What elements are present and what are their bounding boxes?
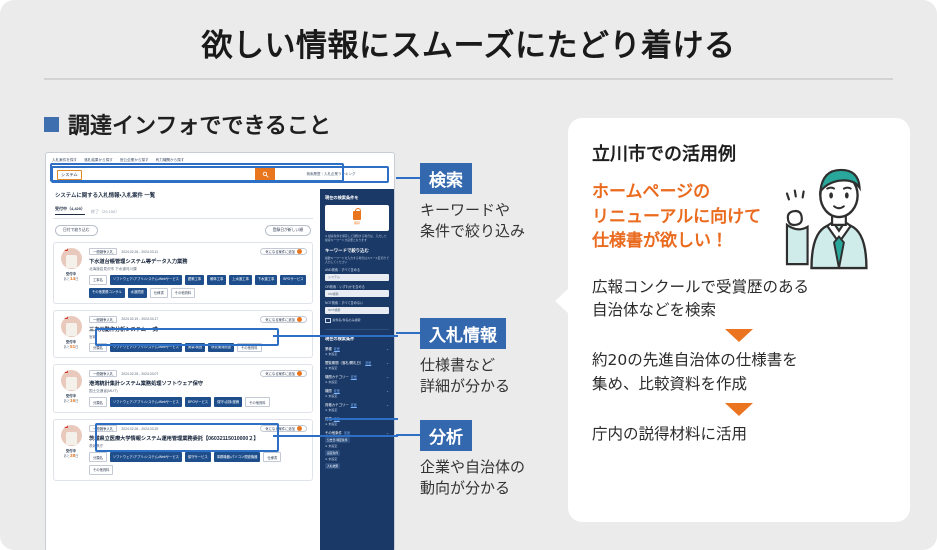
result-thumbnail: NEW 受付中 あと38日 — [58, 425, 84, 475]
chip: その他資料 — [245, 397, 269, 407]
new-badge: NEW — [61, 370, 69, 373]
filter-row[interactable]: 機関カテゴリー変更⌄ ※ 未設定 — [325, 374, 389, 384]
chevron-down-icon: ⌄ — [386, 389, 389, 393]
or-search-input[interactable]: OR検索 — [325, 290, 389, 297]
result-chips: 分類名 ソフトウェア・アプリ・システム・Webサービス BPOサービス 保守・点… — [89, 397, 307, 407]
down-arrow-icon — [725, 329, 753, 342]
star-icon — [297, 249, 302, 254]
result-organization: 官報 — [89, 335, 307, 340]
bid-type-tag: 一般競争入札 — [89, 370, 117, 377]
star-icon — [297, 426, 302, 431]
filter-row[interactable]: その他条件変更⌄ 公告日・特定条件 ※ 未設定 設定条件 ※ 未設定 入札結果 — [325, 430, 389, 469]
checkbox-icon — [325, 318, 331, 324]
callout-description: 仕様書など 詳細が分かる — [420, 355, 510, 398]
filter-change-link[interactable]: 変更 — [344, 431, 350, 435]
callout-badge: 入札情報 — [420, 318, 506, 349]
and-search-label: AND検索：すべて含める — [325, 267, 389, 272]
callout-leader-line — [396, 177, 420, 179]
filter-label: 閲覧期間（落札/開札日） — [325, 360, 363, 365]
save-search-note: ※ 検索条件を保存して通知する場合は、入力した検索キーワードが必要となります — [325, 234, 389, 242]
lock-icon — [353, 211, 361, 220]
result-thumbnail: NEW 受付中 あと51日 — [58, 316, 84, 353]
result-title[interactable]: 茨城県立医療大学情報システム運用管理業務委託【06032115010000２】 — [89, 435, 307, 442]
case-study-heading: 立川市での活用例 — [592, 140, 886, 166]
result-chips: 分類名 ソフトウェア・アプリ・システム・Webサービス 保守サービス 事務機器・… — [89, 452, 307, 475]
date-filter-button[interactable]: 日付で絞り込む — [55, 225, 98, 236]
keyword-filter-heading: キーワードで絞り込む — [325, 248, 389, 254]
avatar: NEW — [61, 248, 82, 269]
callout-badge: 分析 — [420, 420, 472, 451]
chip: 分類名 — [89, 397, 107, 407]
filter-row[interactable]: 閲覧期間（落札/開札日）変更⌄ ※ 未設定 — [325, 360, 389, 370]
checkbox-label: 案件名・件名のみ検索 — [333, 318, 361, 322]
mock-global-nav: 入札案件を探す 落札結果から探す 官公企業から探す 有力機関から探す — [46, 153, 394, 166]
days-unit: 日 — [75, 454, 78, 458]
chip: 分類名 — [89, 452, 107, 462]
callout-analysis: 分析 企業や自治体の 動向が分かる — [396, 420, 525, 500]
result-thumbnail: NEW 受付中 あと16日 — [58, 370, 84, 407]
chip: 上水道工事 — [229, 275, 251, 285]
tab-closed[interactable]: 終了（29,150） — [91, 209, 119, 215]
filter-row[interactable]: 資格変更⌄ ※ 未設定 — [325, 416, 389, 426]
section-heading-label: 調達インフォでできること — [68, 108, 331, 140]
days-unit: 日 — [75, 345, 78, 349]
case-step-2: 約20の先進自治体の仕様書を 集め、比較資料を作成 — [592, 349, 886, 396]
bid-date-range: 2024.02.26 - 2024.03.11 — [121, 250, 158, 254]
businessman-illustration — [778, 166, 896, 270]
new-badge: NEW — [61, 425, 69, 428]
down-arrow-icon — [725, 403, 753, 416]
square-bullet-icon — [44, 117, 59, 132]
save-search-button[interactable]: 保存 — [325, 205, 389, 231]
filter-label: 業種 — [325, 346, 332, 351]
chip: 解体工事 — [207, 275, 226, 285]
callout-badge: 検索 — [420, 163, 472, 194]
filter-change-link[interactable]: 変更 — [351, 403, 357, 407]
star-icon — [297, 371, 302, 376]
favorite-label: 気になる案件に追加 — [265, 426, 295, 431]
search-bar[interactable]: システム 検索履歴｜入札企業ランキング — [51, 166, 389, 183]
filter-state: ※ 未設定 — [325, 394, 389, 398]
chip: 保守サービス — [185, 452, 211, 462]
add-to-favorites-button[interactable]: 気になる案件に追加 — [260, 370, 307, 377]
filter-change-link[interactable]: 変更 — [334, 347, 340, 351]
section-heading: 調達インフォでできること — [44, 108, 331, 140]
search-input[interactable]: システム — [53, 168, 255, 181]
card-pointer-notch — [555, 288, 569, 314]
favorite-label: 気になる案件に追加 — [265, 317, 295, 322]
chip: ソフトウェア・アプリ・システム・Webサービス — [110, 452, 182, 462]
filter-change-link[interactable]: 変更 — [365, 361, 371, 365]
case-study-steps: 広報コンクールで受賞歴のある 自治体などを検索 約20の先進自治体の仕様書を 集… — [592, 276, 886, 446]
filter-state: ※ 未設定 — [325, 408, 389, 412]
chip: ソフトウェア・アプリ・システム・Webサービス — [110, 397, 182, 407]
sort-button[interactable]: 登録日が新しい順 — [265, 225, 311, 236]
callout-search: 検索 キーワードや 条件で絞り込み — [396, 163, 525, 243]
bid-date-range: 2024.02.25 - 2024.03.07 — [121, 372, 158, 376]
result-organization: 国土交通省(MLIT) — [89, 389, 307, 394]
chip: ソフトウェア・アプリ・システム・Webサービス — [110, 343, 182, 353]
bid-type-tag: 一般競争入札 — [89, 316, 117, 323]
chevron-down-icon: ⌄ — [386, 403, 389, 407]
search-icon — [262, 171, 269, 178]
result-title[interactable]: 下水道台帳管理システム等データ入力業務 — [89, 258, 307, 265]
new-badge: NEW — [61, 248, 69, 251]
title-divider — [44, 78, 893, 80]
chip: 保守・点検・整備 — [214, 397, 242, 407]
chip: その他資料 — [89, 465, 113, 475]
filter-label: 資格 — [325, 416, 332, 421]
filter-state: ※ 未設定 — [325, 380, 389, 384]
result-organization: 茨城県庁 — [89, 444, 307, 449]
chevron-down-icon: ⌄ — [386, 347, 389, 351]
chip: 仕様書 — [150, 288, 168, 298]
days-unit: 日 — [75, 399, 78, 403]
filter-chip: 入札結果 — [325, 463, 340, 469]
filter-change-link[interactable]: 変更 — [334, 417, 340, 421]
result-card[interactable]: NEW 受付中 あと51日 一般競争入札 2024.02.19 - 2024.0… — [53, 310, 313, 359]
results-heading: システムに関する入札情報・入札案件 一覧 — [55, 191, 313, 199]
filter-state: ※ 未設定 — [325, 422, 389, 426]
filter-row[interactable]: 業種変更⌄ ※ 未設定 — [325, 346, 389, 356]
callout-leader-line — [396, 332, 420, 334]
case-study-card: 立川市での活用例 ホームページの リニューアルに向けて 仕様書が欲しい！ — [568, 118, 910, 522]
save-search-heading: 現在の検索条件を — [325, 195, 389, 201]
filter-label: その他条件 — [325, 430, 342, 435]
search-button[interactable] — [255, 168, 275, 181]
avatar: NEW — [61, 370, 82, 391]
result-thumbnail: NEW 受付中 あと14日 — [58, 248, 84, 298]
filter-row[interactable]: 資格カテゴリー変更⌄ ※ 未設定 — [325, 402, 389, 412]
filter-label: 資格カテゴリー — [325, 402, 349, 407]
chip: その他資料 — [237, 343, 261, 353]
result-days: あと51日 — [64, 344, 79, 349]
app-screenshot-mock: 入札案件を探す 落札結果から探す 官公企業から探す 有力機関から探す システム … — [45, 152, 395, 550]
callout-bid-info: 入札情報 仕様書など 詳細が分かる — [396, 318, 510, 398]
add-to-favorites-button[interactable]: 気になる案件に追加 — [260, 248, 307, 255]
chip: ソフトウェア・アプリ・システム・Webサービス — [110, 275, 182, 285]
result-organization: 北海道岩見沢市 下水道河川課 — [89, 267, 307, 272]
avatar: NEW — [61, 316, 82, 337]
tab-open[interactable]: 受付中（4,420） — [55, 206, 85, 215]
or-search-label: OR検索：いずれかを含める — [325, 284, 389, 289]
chip: 工事名 — [89, 275, 107, 285]
case-step-3: 庁内の説得材料に活用 — [592, 423, 886, 446]
filter-row[interactable]: 機関変更⌄ ※ 未設定 — [325, 388, 389, 398]
results-tabs: 受付中（4,420） 終了（29,150） — [55, 206, 313, 215]
filter-change-link[interactable]: 変更 — [351, 375, 357, 379]
filter-state: ※ 未設定 — [325, 366, 389, 370]
result-meta: 一般競争入札 2024.02.26 - 2024.03.25 気になる案件に追加 — [89, 425, 307, 432]
search-extra-links[interactable]: 検索履歴｜入札企業ランキング — [275, 168, 387, 181]
nav-item-3[interactable]: 有力機関から探す — [156, 158, 185, 163]
case-study-quote: ホームページの リニューアルに向けて 仕様書が欲しい！ — [592, 180, 792, 254]
chevron-down-icon: ⌄ — [386, 431, 389, 435]
result-title[interactable]: 港湾統計集計システム業務処理ソフトウェア保守 — [89, 380, 307, 387]
chip: 建築工事 — [185, 275, 204, 285]
result-chips: 分類名 ソフトウェア・アプリ・システム・Webサービス 測量・検査 研究開発関連… — [89, 343, 307, 353]
chip: 下水道工事 — [255, 275, 277, 285]
chip: BPOサービス — [185, 397, 211, 407]
search-keyword-chip: システム — [57, 170, 82, 180]
results-toolbar: 日付で絞り込む 登録日が新しい順 — [55, 225, 311, 236]
keyword-filter-hint: 複数キーワードを入力する場合はスペース区切りで入力してください — [325, 256, 389, 264]
result-card[interactable]: NEW 受付中 あと16日 一般競争入札 2024.02.25 - 2024.0… — [53, 364, 313, 413]
title-only-checkbox[interactable]: 案件名・件名のみ検索 — [325, 318, 389, 324]
new-badge: NEW — [61, 316, 69, 319]
result-card[interactable]: NEW 受付中 あと38日 一般競争入札 2024.02.26 - 2024.0… — [53, 419, 313, 481]
and-search-input[interactable]: システム — [325, 274, 389, 281]
filter-state: ※ 未設定 — [325, 457, 389, 461]
chip: 仕様書 — [263, 452, 281, 462]
chevron-down-icon: ⌄ — [386, 417, 389, 421]
filter-state: ※ 未設定 — [325, 444, 389, 448]
star-icon — [297, 317, 302, 322]
chevron-down-icon: ⌄ — [386, 361, 389, 365]
slide-canvas: 欲しい情報にスムーズにたどり着ける 調達インフォでできること 入札案件を探す 落… — [0, 0, 937, 550]
result-title[interactable]: 三次元動作分析システム 一式 — [89, 326, 307, 333]
favorite-label: 気になる案件に追加 — [265, 371, 295, 376]
save-label: 保存 — [354, 221, 360, 225]
chip: その他資料 — [171, 288, 195, 298]
result-meta: 一般競争入札 2024.02.26 - 2024.03.11 気になる案件に追加 — [89, 248, 307, 255]
filter-chip: 設定条件 — [325, 450, 340, 456]
result-card[interactable]: NEW 受付中 あと14日 一般競争入札 2024.02.26 - 2024.0… — [53, 242, 313, 304]
result-chips: 工事名 ソフトウェア・アプリ・システム・Webサービス 建築工事 解体工事 上水… — [89, 275, 307, 298]
avatar: NEW — [61, 425, 82, 446]
bid-date-range: 2024.02.19 - 2024.04.17 — [121, 317, 158, 321]
result-meta: 一般競争入札 2024.02.25 - 2024.03.07 気になる案件に追加 — [89, 370, 307, 377]
tabs-divider — [53, 218, 313, 219]
nav-item-1[interactable]: 落札結果から探す — [84, 158, 113, 163]
filter-change-link[interactable]: 変更 — [334, 389, 340, 393]
bid-type-tag: 一般競争入札 — [89, 425, 117, 432]
chip: その他業務コンサル — [89, 288, 125, 298]
case-step-1: 広報コンクールで受賞歴のある 自治体などを検索 — [592, 276, 886, 323]
result-meta: 一般競争入札 2024.02.19 - 2024.04.17 気になる案件に追加 — [89, 316, 307, 323]
result-days: あと14日 — [64, 276, 79, 281]
not-search-input[interactable]: NOT検索 — [325, 307, 389, 314]
page-title: 欲しい情報にスムーズにたどり着ける — [0, 20, 937, 65]
days-unit: 日 — [75, 277, 78, 281]
callout-leader-line — [396, 434, 420, 436]
bid-type-tag: 一般競争入札 — [89, 248, 117, 255]
bid-date-range: 2024.02.26 - 2024.03.25 — [121, 427, 158, 431]
chip: 研究開発関連 — [208, 343, 234, 353]
current-conditions-heading: 現在の検索条件 — [325, 336, 389, 342]
filter-chip: 公告日・特定条件 — [325, 437, 350, 443]
add-to-favorites-button[interactable]: 気になる案件に追加 — [260, 425, 307, 432]
nav-item-2[interactable]: 官公企業から探す — [120, 158, 149, 163]
chip: 事務機器・パソコン関連機器 — [214, 452, 261, 462]
add-to-favorites-button[interactable]: 気になる案件に追加 — [260, 316, 307, 323]
chip: 測量・検査 — [185, 343, 205, 353]
chevron-down-icon: ⌄ — [386, 375, 389, 379]
nav-item-0[interactable]: 入札案件を探す — [52, 158, 77, 163]
favorite-label: 気になる案件に追加 — [265, 249, 295, 254]
filter-label: 機関カテゴリー — [325, 374, 349, 379]
chip: BPOサービス — [280, 275, 306, 285]
not-search-label: NOT検索：すべて含めない — [325, 300, 389, 305]
chip: 水道関連 — [128, 288, 147, 298]
sidebar-divider — [325, 329, 389, 330]
mock-filter-sidebar: 現在の検索条件を 保存 ※ 検索条件を保存して通知する場合は、入力した検索キーワ… — [320, 189, 394, 550]
result-days: あと16日 — [64, 398, 79, 403]
filter-label: 機関 — [325, 388, 332, 393]
mock-results-column: システムに関する入札情報・入札案件 一覧 受付中（4,420） 終了（29,15… — [46, 189, 320, 550]
callout-description: キーワードや 条件で絞り込み — [420, 200, 525, 243]
chip: 分類名 — [89, 343, 107, 353]
callout-description: 企業や自治体の 動向が分かる — [420, 457, 525, 500]
result-days: あと38日 — [64, 453, 79, 458]
filter-state: ※ 未設定 — [325, 352, 389, 356]
